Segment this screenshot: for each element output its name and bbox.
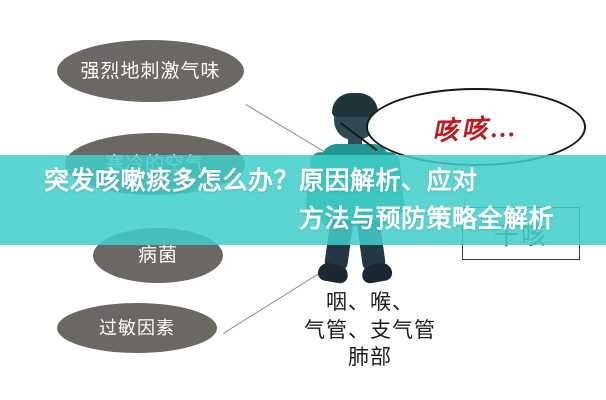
organ-line-2: 气管、支气管 bbox=[285, 317, 455, 345]
cause-germs-label: 病菌 bbox=[138, 246, 178, 265]
caption-overlay-band: 突发咳嗽痰多怎么办？原因解析、应对 方法与预防策略全解析 bbox=[0, 155, 606, 245]
organ-line-1: 咽、喉、 bbox=[285, 289, 455, 317]
organ-line-3: 肺部 bbox=[285, 344, 455, 372]
cause-irritant-odor-label: 强烈地刺激气味 bbox=[80, 62, 220, 81]
infographic-screenshot: 强烈地刺激气味 寒冷的空气 病菌 过敏因素 咳咳… bbox=[0, 0, 606, 400]
affected-organs-list: 咽、喉、 气管、支气管 肺部 bbox=[285, 289, 455, 372]
cause-allergy-label: 过敏因素 bbox=[99, 319, 175, 337]
speech-bubble-text: 咳咳… bbox=[432, 106, 521, 148]
caption-line-1: 突发咳嗽痰多怎么办？原因解析、应对 bbox=[44, 162, 478, 200]
cause-irritant-odor: 强烈地刺激气味 bbox=[57, 40, 244, 102]
caption-line-2: 方法与预防策略全解析 bbox=[299, 200, 554, 238]
cause-allergy: 过敏因素 bbox=[57, 303, 217, 353]
